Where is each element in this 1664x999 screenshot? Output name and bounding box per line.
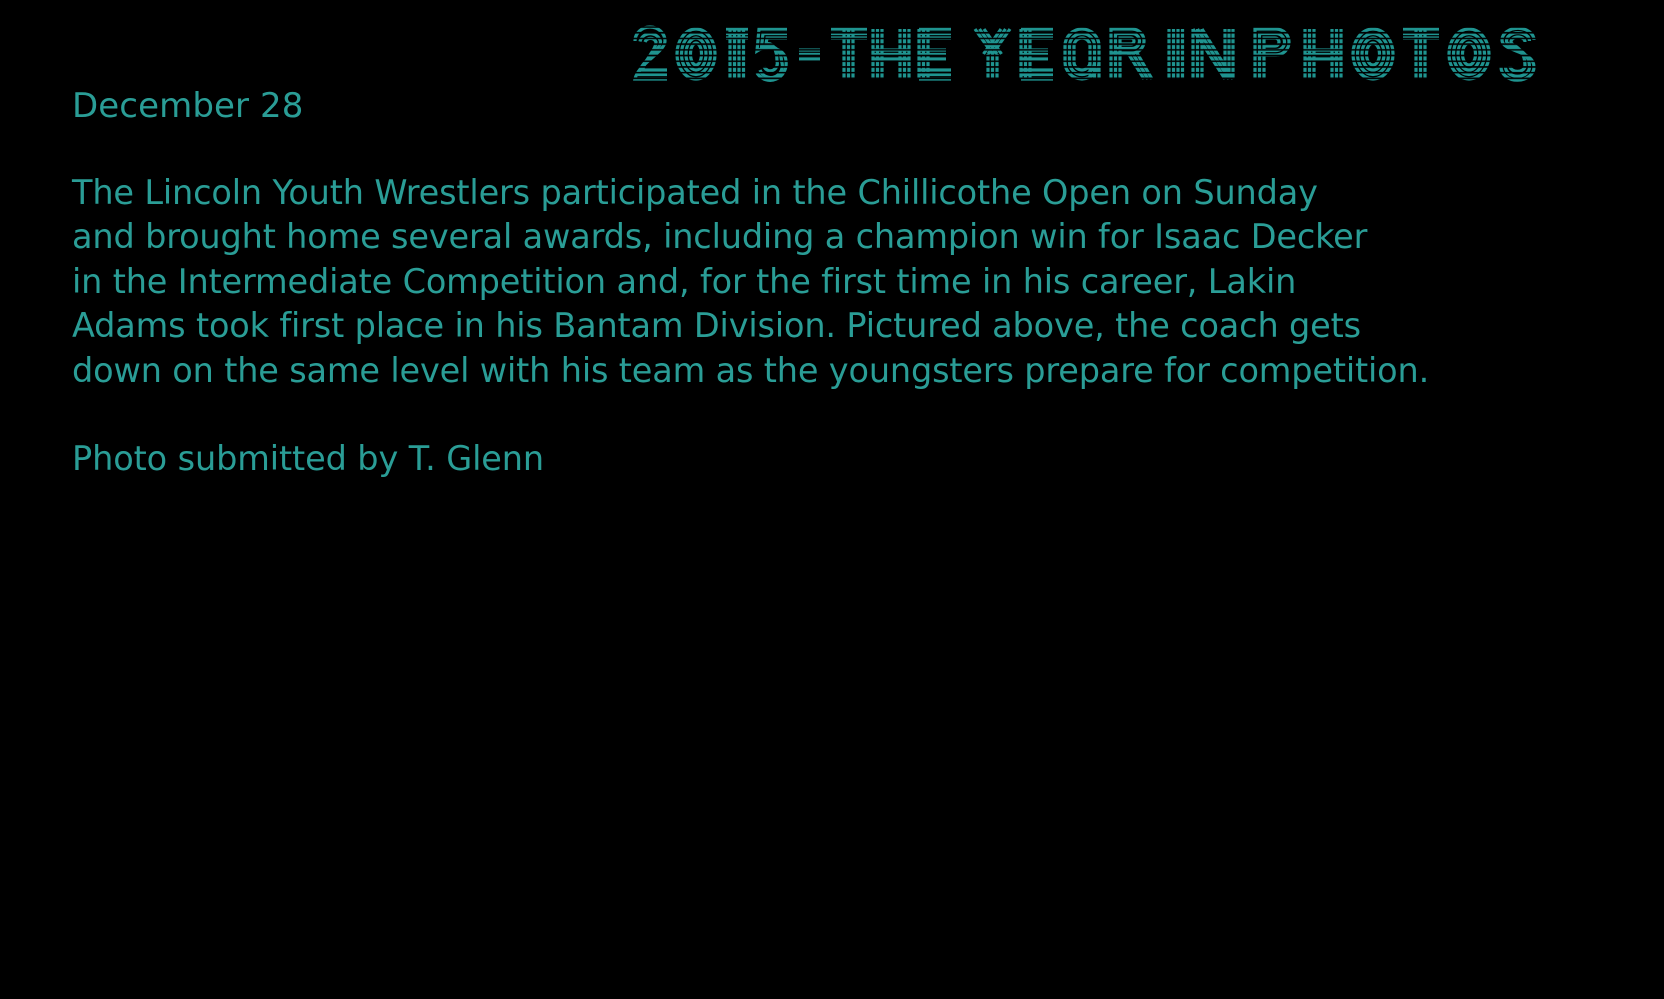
caption-body: The Lincoln Youth Wrestlers participated… [72,171,1552,394]
spacer [72,129,1552,171]
caption-date: December 28 [72,84,1552,129]
photo-credit: Photo submitted by T. Glenn [72,437,1552,481]
photo-slide: December 28 The Lincoln Youth Wrestlers … [0,0,1664,999]
caption-block: December 28 The Lincoln Youth Wrestlers … [72,84,1552,482]
banner-title [0,16,1664,94]
banner-striped-text [630,16,1660,94]
spacer [72,393,1552,437]
